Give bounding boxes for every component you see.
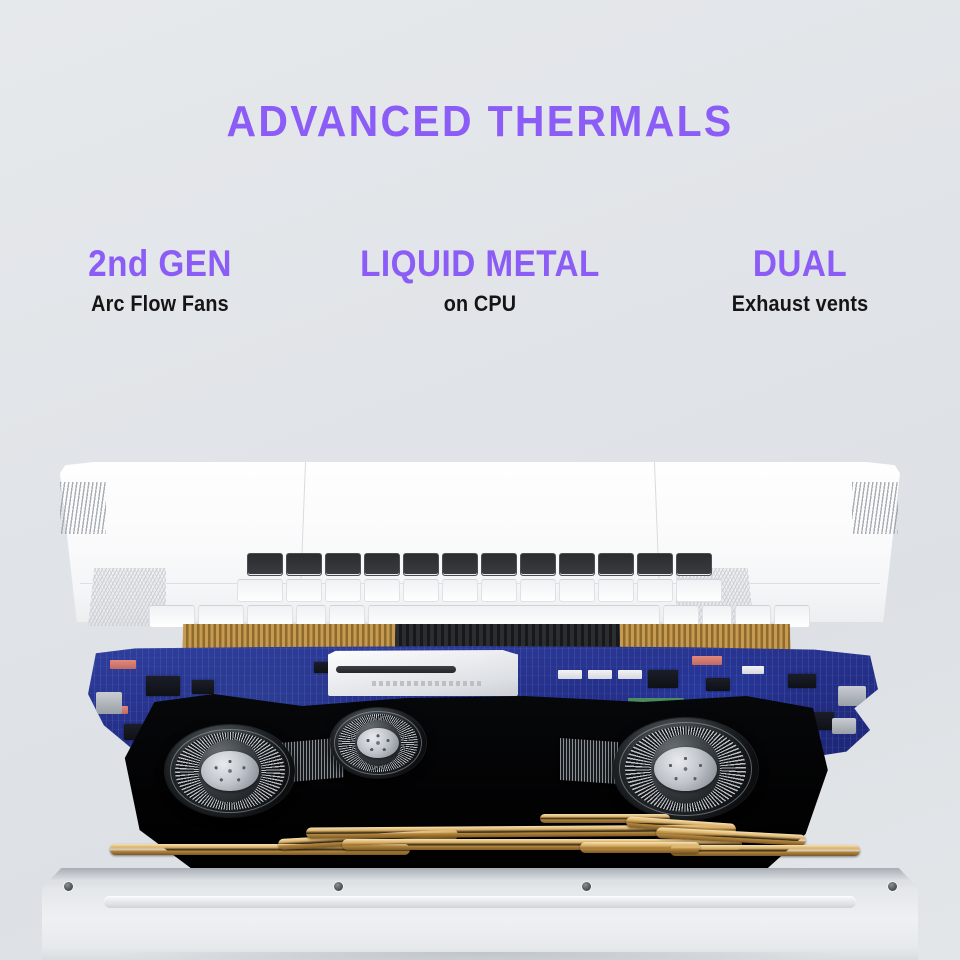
feature-item-liquid-metal: LIQUID METAL on CPU <box>320 243 640 317</box>
key-b <box>482 579 518 602</box>
feature-headline: LIQUID METAL <box>336 243 624 285</box>
exhaust-vent-right <box>852 482 898 534</box>
key-shift-right <box>238 579 284 602</box>
key-period <box>326 579 362 602</box>
keyboard-row-middle <box>190 579 770 602</box>
key-h <box>365 553 401 576</box>
contact-shadow <box>120 952 840 960</box>
key-k <box>287 553 323 576</box>
bottom-base-cover <box>42 868 918 960</box>
io-port <box>832 718 856 734</box>
feature-subtext: on CPU <box>336 291 624 317</box>
heatpipe-segment <box>580 842 700 853</box>
feature-item-exhaust-vents: DUAL Exhaust vents <box>640 243 960 317</box>
arc-flow-fan-center <box>330 708 426 778</box>
key-z <box>638 579 674 602</box>
key-ctrl <box>677 553 713 576</box>
key-a <box>560 553 596 576</box>
product-marketing-image: ADVANCED THERMALS 2nd GEN Arc Flow Fans … <box>0 0 960 960</box>
key-v <box>521 579 557 602</box>
pcb-chip <box>706 678 730 691</box>
io-port <box>838 686 866 706</box>
feature-subtext: Exhaust vents <box>656 291 944 317</box>
base-screw <box>64 882 73 891</box>
key-n <box>443 579 479 602</box>
gold-connector-comb-right <box>620 624 790 650</box>
pcb-chip <box>192 680 214 694</box>
key-m <box>404 579 440 602</box>
key-fn <box>638 553 674 576</box>
base-front-edge <box>42 868 918 881</box>
copper-heatpipes <box>110 798 850 874</box>
keyboard-row-bottom <box>190 553 770 576</box>
pcb-chip <box>146 676 180 696</box>
feature-subtext: Arc Flow Fans <box>16 291 304 317</box>
shield-label <box>372 681 482 686</box>
key-c <box>560 579 596 602</box>
exhaust-vent-left <box>60 482 106 534</box>
base-screw <box>888 882 897 891</box>
key-comma <box>365 579 401 602</box>
heatsink-fins-right <box>560 738 618 784</box>
pcb-connector <box>692 656 722 665</box>
key-d <box>482 553 518 576</box>
pcb-connector <box>110 660 136 669</box>
product-exploded-view <box>0 440 960 960</box>
feature-item-arc-flow-fans: 2nd GEN Arc Flow Fans <box>0 243 320 317</box>
keyboard <box>190 568 770 628</box>
feature-headline: 2nd GEN <box>16 243 304 285</box>
gold-connector-comb-left <box>183 624 395 650</box>
pcb-component <box>558 670 582 679</box>
key-g <box>404 553 440 576</box>
key-alt-left <box>599 553 635 576</box>
io-port <box>96 692 122 714</box>
base-lip <box>104 896 856 908</box>
pcb-component <box>588 670 612 679</box>
key-x <box>599 579 635 602</box>
key-shift-left <box>677 579 723 602</box>
key-j <box>326 553 362 576</box>
feature-list: 2nd GEN Arc Flow Fans LIQUID METAL on CP… <box>0 243 960 333</box>
page-title: ADVANCED THERMALS <box>34 96 927 148</box>
key-f <box>443 553 479 576</box>
pcb-component <box>742 666 764 674</box>
base-screw <box>582 882 591 891</box>
key-slash <box>287 579 323 602</box>
ssd-heat-shield <box>328 650 518 696</box>
pcb-component <box>618 670 642 679</box>
key-s <box>521 553 557 576</box>
fan-hub-holes <box>201 751 258 791</box>
feature-headline: DUAL <box>656 243 944 285</box>
shield-slot <box>336 666 456 673</box>
pcb-chip <box>788 674 816 688</box>
fan-hub <box>201 751 258 791</box>
ribbon-connector-center <box>395 624 620 650</box>
key-l <box>248 553 284 576</box>
pcb-chip <box>648 670 678 688</box>
base-screw <box>334 882 343 891</box>
